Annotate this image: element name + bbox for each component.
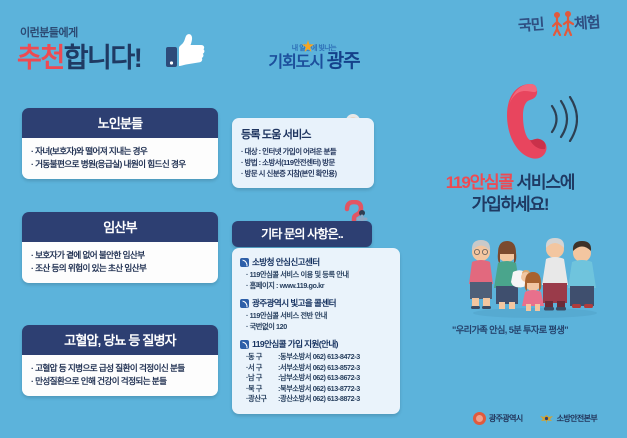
inquiry-group-name: 소방청 안심신고센터 (252, 256, 320, 268)
footer-logo-fire-safety: 소방안전본부 (539, 413, 598, 425)
fire-safety-eagle-icon (539, 413, 554, 425)
gwangju-logo-name: 기회도시 광주 (256, 53, 372, 72)
list-item: 방법 : 소방서(119안전센터) 방문 (241, 157, 365, 168)
card-body: 보호자가 곁에 없어 불안한 임산부 조산 등의 위험이 있는 초산 임산부 (22, 242, 218, 283)
table-row: 동 구: 동부소방서 062) 613-8472-3 (240, 352, 392, 363)
phone-icon (240, 340, 249, 349)
district-area: 북 구 (248, 384, 278, 395)
district-phone: 062) 613-8572-3 (313, 363, 360, 374)
calligraphy-right-text: 체험 (573, 11, 600, 34)
slogan-text: "우리가족 안심, 5분 투자로 평생" (393, 322, 627, 336)
national-calligraphy-logo: 국민 체험 (518, 8, 614, 40)
footer-logo-gwangju: 광주광역시 (473, 412, 523, 425)
sound-waves-icon (548, 96, 578, 142)
card-title: 고혈압, 당뇨 등 질병자 (22, 325, 218, 355)
list-item: 만성질환으로 인해 건강이 걱정되는 분들 (31, 375, 209, 388)
inquiry-group-title: 119안심콜 가입 지원(안내) (240, 338, 392, 350)
calligraphy-left-text: 국민 (517, 13, 544, 36)
cta-title-rest: 서비스에 (513, 173, 574, 192)
registration-title: 등록 도움 서비스 (241, 126, 365, 142)
gwangju-logo-city: 광주 (327, 51, 360, 72)
list-item: 보호자가 곁에 없어 불안한 임산부 (31, 249, 209, 262)
footer-logo-label: 소방안전본부 (557, 413, 598, 424)
gwangju-logo-prefix: 기회도시 (268, 54, 323, 71)
page-title: 추천합니다! (17, 36, 141, 75)
table-row: 서 구: 서부소방서 062) 613-8572-3 (240, 363, 392, 374)
thumbs-up-icon (166, 33, 206, 69)
page-title-rest: 합니다! (64, 43, 142, 73)
list-item: 조산 등의 위험이 있는 초산 임산부 (31, 262, 209, 275)
inquiry-group-fire-agency: 소방청 안심신고센터 119안심콜 서비스 이용 및 등록 안내 홈페이지 : … (240, 256, 392, 291)
table-row: 광산구: 광산소방서 062) 613-8872-3 (240, 394, 392, 405)
list-item: 자녀(보호자)와 떨어져 지내는 경우 (31, 145, 209, 158)
table-row: 북 구: 북부소방서 062) 613-8772-3 (240, 384, 392, 395)
district-office: 북부소방서 (280, 384, 311, 395)
list-item: 국번없이 120 (240, 322, 392, 333)
phone-icon (240, 258, 249, 267)
card-title: 임산부 (22, 212, 218, 242)
inquiry-group-name: 119안심콜 가입 지원(안내) (252, 338, 338, 350)
district-area: 광산구 (248, 394, 278, 405)
list-item: 홈페이지 : www.119.go.kr (240, 281, 392, 292)
district-area: 동 구 (248, 352, 278, 363)
registration-list: 대상 : 인터넷 가입이 어려운 분들 방법 : 소방서(119안전센터) 방문… (241, 146, 365, 179)
footer-logo-label: 광주광역시 (489, 413, 523, 424)
district-office: 광산소방서 (280, 394, 311, 405)
target-group-card-elderly: 노인분들 자녀(보호자)와 떨어져 지내는 경우 거동불편으로 병원(응급실) … (22, 108, 218, 179)
district-phone: 062) 613-8472-3 (313, 352, 360, 363)
list-item: 거동불편으로 병원(응급실) 내원이 힘드신 경우 (31, 158, 209, 171)
inquiry-card: 소방청 안심신고센터 119안심콜 서비스 이용 및 등록 안내 홈페이지 : … (232, 248, 400, 414)
district-phone: 062) 613-8872-3 (313, 394, 360, 405)
inquiry-group-name: 광주광역시 빛고을 콜센터 (252, 297, 336, 309)
list-item: 119안심콜 서비스 이용 및 등록 안내 (240, 270, 392, 281)
registration-help-card: 등록 도움 서비스 대상 : 인터넷 가입이 어려운 분들 방법 : 소방서(1… (232, 118, 374, 188)
list-item: 방문 시 신분증 지참(본인 확인용) (241, 168, 365, 179)
inquiry-header: 기타 문의 사항은.. (232, 221, 372, 247)
district-office: 서부소방서 (280, 363, 311, 374)
cta-title: 119안심콜 서비스에 가입하세요! (393, 172, 627, 216)
people-figure-icon (552, 10, 574, 36)
footer-logos: 광주광역시 소방안전본부 (455, 412, 615, 425)
list-item: 119안심콜 서비스 전반 안내 (240, 311, 392, 322)
poster-root: 이런분들에게 추천합니다! 내 일상에 빛나는 기회도시 광주 국민 체험 노인… (0, 0, 627, 438)
district-area: 서 구 (248, 363, 278, 374)
telephone-handset-icon (497, 78, 553, 164)
card-title: 노인분들 (22, 108, 218, 138)
list-item: 대상 : 인터넷 가입이 어려운 분들 (241, 146, 365, 157)
district-office: 동부소방서 (280, 352, 311, 363)
cta-title-highlight: 119안심콜 (446, 173, 513, 192)
district-phone: 062) 613-8772-3 (313, 384, 360, 395)
district-phone: 062) 613-8672-3 (313, 373, 360, 384)
inquiry-group-title: 소방청 안심신고센터 (240, 256, 392, 268)
gwangju-city-logo: 내 일상에 빛나는 기회도시 광주 (256, 44, 372, 80)
table-row: 남 구: 남부소방서 062) 613-8672-3 (240, 373, 392, 384)
inquiry-group-call-center: 광주광역시 빛고을 콜센터 119안심콜 서비스 전반 안내 국번없이 120 (240, 297, 392, 332)
card-body: 고혈압 등 지병으로 급성 질환이 걱정이신 분들 만성질환으로 인해 건강이 … (22, 355, 218, 396)
gwangju-city-seal-icon (473, 412, 486, 425)
district-list: 동 구: 동부소방서 062) 613-8472-3 서 구: 서부소방서 06… (240, 352, 392, 405)
list-item: 고혈압 등 지병으로 급성 질환이 걱정이신 분들 (31, 362, 209, 375)
inquiry-group-district-offices: 119안심콜 가입 지원(안내) 동 구: 동부소방서 062) 613-847… (240, 338, 392, 405)
family-illustration (455, 236, 615, 318)
cta-title-line2: 가입하세요! (472, 195, 549, 214)
phone-icon (240, 299, 249, 308)
target-group-card-chronic-illness: 고혈압, 당뇨 등 질병자 고혈압 등 지병으로 급성 질환이 걱정이신 분들 … (22, 325, 218, 396)
district-area: 남 구 (248, 373, 278, 384)
district-office: 남부소방서 (280, 373, 311, 384)
inquiry-group-title: 광주광역시 빛고을 콜센터 (240, 297, 392, 309)
card-body: 자녀(보호자)와 떨어져 지내는 경우 거동불편으로 병원(응급실) 내원이 힘… (22, 138, 218, 179)
target-group-card-pregnant: 임산부 보호자가 곁에 없어 불안한 임산부 조산 등의 위험이 있는 초산 임… (22, 212, 218, 283)
page-title-highlight: 추천 (17, 43, 64, 73)
